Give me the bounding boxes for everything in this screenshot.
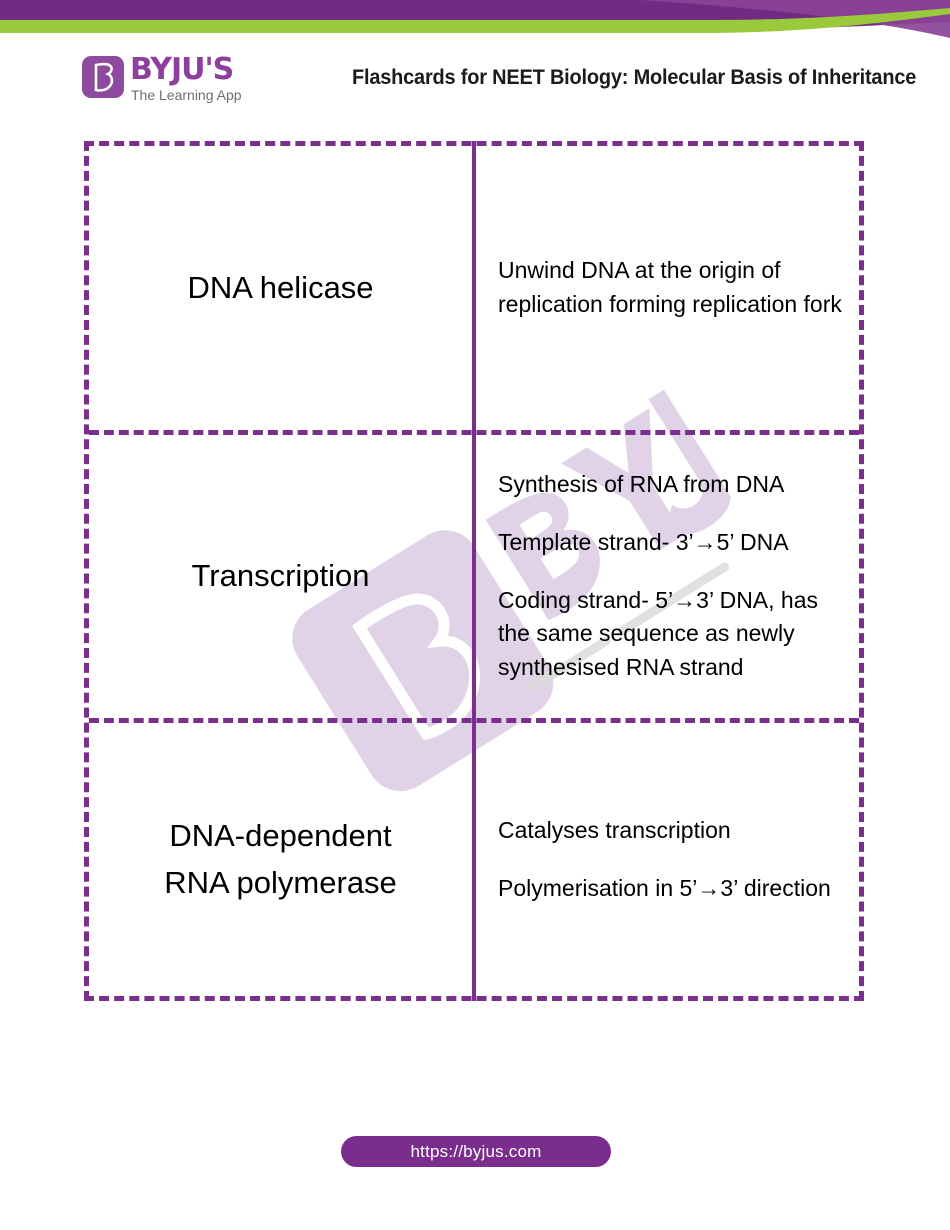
flashcard-definition-cell: Catalyses transcription Polymerisation i… bbox=[472, 723, 859, 996]
flashcard-definition-line: Template strand- 3’→5’ DNA bbox=[498, 526, 849, 560]
flashcard-definition-cell: Unwind DNA at the origin of replication … bbox=[472, 146, 859, 430]
flashcard-row: DNA-dependent RNA polymerase Catalyses t… bbox=[89, 718, 859, 996]
byjus-logo[interactable]: BYJU'S The Learning App bbox=[82, 54, 252, 114]
flashcard-definition-line: Coding strand- 5’→3’ DNA, has the same s… bbox=[498, 584, 849, 685]
flashcard-term-cell: DNA helicase bbox=[89, 146, 472, 430]
flashcard-term-cell: DNA-dependent RNA polymerase bbox=[89, 723, 472, 996]
flashcard-definition-line: Unwind DNA at the origin of replication … bbox=[498, 254, 849, 322]
byjus-tagline: The Learning App bbox=[131, 87, 242, 103]
byjus-website-link-text: https://byjus.com bbox=[411, 1142, 542, 1162]
flashcard-definition-line: Polymerisation in 5’→3’ direction bbox=[498, 872, 849, 906]
byjus-b-monogram-icon bbox=[82, 56, 124, 98]
flashcard-definition-cell: Synthesis of RNA from DNA Template stran… bbox=[472, 435, 859, 718]
flashcard-row: Transcription Synthesis of RNA from DNA … bbox=[89, 430, 859, 718]
flashcard-row: DNA helicase Unwind DNA at the origin of… bbox=[89, 146, 859, 430]
flashcard-definition-line: Catalyses transcription bbox=[498, 814, 849, 848]
top-decorative-banner bbox=[0, 0, 950, 46]
flashcards-grid: DNA helicase Unwind DNA at the origin of… bbox=[84, 141, 864, 1001]
flashcard-term-text: Transcription bbox=[191, 553, 369, 600]
byjus-wordmark: BYJU'S bbox=[130, 54, 233, 86]
flashcard-definition-line: Synthesis of RNA from DNA bbox=[498, 468, 849, 502]
page-title: Flashcards for NEET Biology: Molecular B… bbox=[352, 66, 903, 90]
flashcard-term-cell: Transcription bbox=[89, 435, 472, 718]
byjus-website-link[interactable]: https://byjus.com bbox=[341, 1136, 611, 1167]
flashcard-term-text: DNA helicase bbox=[187, 265, 373, 312]
flashcard-term-text: DNA-dependent RNA polymerase bbox=[164, 813, 397, 906]
page-header: BYJU'S The Learning App Flashcards for N… bbox=[0, 46, 950, 128]
